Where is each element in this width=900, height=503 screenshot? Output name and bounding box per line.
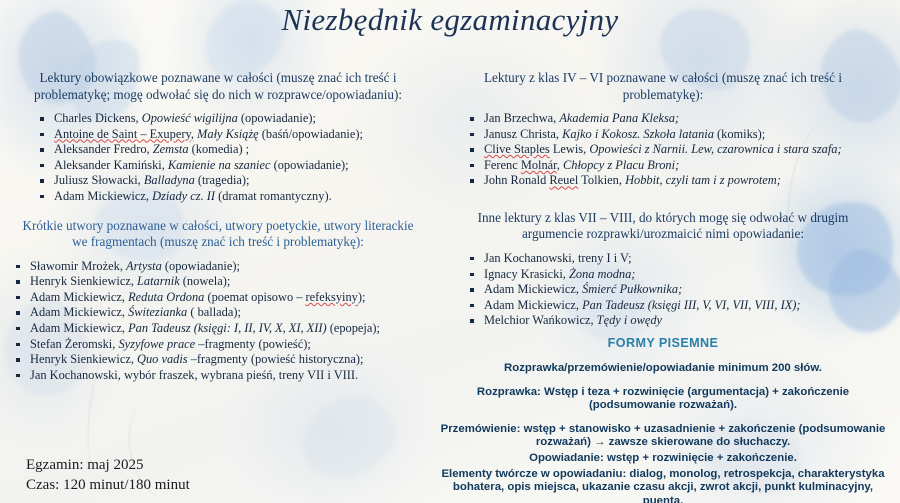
list-item: Henryk Sienkiewicz, Latarnik (nowela); — [8, 274, 428, 289]
list-item: Juliusz Słowacki, Balladyna (tragedia); — [8, 173, 428, 188]
list-item: Janusz Christa, Kajko i Kokosz. Szkoła l… — [432, 127, 894, 142]
left-short-works-list: Sławomir Mrożek, Artysta (opowiadanie); … — [8, 259, 428, 383]
written-forms-line: Przemówienie: wstęp + stanowisko + uzasa… — [432, 423, 894, 450]
slide-canvas: Niezbędnik egzaminacyjny Lektury obowiąz… — [0, 0, 900, 503]
list-item: Adam Mickiewicz, Śmierć Pułkownika; — [432, 282, 894, 297]
list-item: Jan Kochanowski, treny I i V; — [432, 251, 894, 266]
left-column: Lektury obowiązkowe poznawane w całości … — [8, 70, 428, 383]
written-forms-heading: FORMY PISEMNE — [432, 336, 894, 350]
list-item: Antoine de Saint – Exupery, Mały Książę … — [8, 127, 428, 142]
list-item: Aleksander Fredro, Zemsta (komedia) ; — [8, 142, 428, 157]
list-item: Henryk Sienkiewicz, Quo vadis –fragmenty… — [8, 352, 428, 367]
left-heading-required-reading: Lektury obowiązkowe poznawane w całości … — [8, 70, 428, 103]
written-forms-line: Rozprawka: Wstęp i teza + rozwinięcie (a… — [432, 386, 894, 413]
list-item: Adam Mickiewicz, Pan Tadeusz (księgi III… — [432, 298, 894, 313]
right-heading-grades-7-8: Inne lektury z klas VII – VIII, do który… — [432, 210, 894, 243]
exam-footer: Egzamin: maj 2025 Czas: 120 minut/180 mi… — [26, 455, 190, 495]
list-item: John Ronald Reuel Tolkien, Hobbit, czyli… — [432, 173, 894, 188]
list-item: Clive Staples Lewis, Opowieści z Narnii.… — [432, 142, 894, 157]
list-item: Charles Dickens, Opowieść wigilijna (opo… — [8, 111, 428, 126]
written-forms-line: Rozprawka/przemówienie/opowiadanie minim… — [432, 362, 894, 376]
list-item: Stefan Żeromski, Syzyfowe prace –fragmen… — [8, 337, 428, 352]
written-forms-line: Elementy twórcze w opowiadaniu: dialog, … — [432, 468, 894, 503]
list-item: Sławomir Mrożek, Artysta (opowiadanie); — [8, 259, 428, 274]
exam-duration: Czas: 120 minut/180 minut — [26, 475, 190, 495]
right-heading-grades-4-6: Lektury z klas IV – VI poznawane w całoś… — [432, 70, 894, 103]
list-item: Adam Mickiewicz, Reduta Ordona (poemat o… — [8, 290, 428, 305]
left-heading-short-works: Krótkie utwory poznawane w całości, utwo… — [8, 218, 428, 251]
list-item: Aleksander Kamiński, Kamienie na szaniec… — [8, 158, 428, 173]
list-item: Ignacy Krasicki, Żona modna; — [432, 267, 894, 282]
list-item: Ferenc Molnár, Chłopcy z Placu Broni; — [432, 158, 894, 173]
right-grades-7-8-list: Jan Kochanowski, treny I i V; Ignacy Kra… — [432, 251, 894, 328]
list-item: Adam Mickiewicz, Pan Tadeusz (księgi: I,… — [8, 321, 428, 336]
list-item: Melchior Wańkowicz, Tędy i owędy — [432, 313, 894, 328]
written-forms-section: FORMY PISEMNE Rozprawka/przemówienie/opo… — [432, 336, 894, 503]
list-item: Jan Kochanowski, wybór fraszek, wybrana … — [8, 368, 428, 383]
list-item: Adam Mickiewicz, Świtezianka ( ballada); — [8, 305, 428, 320]
right-grades-4-6-list: Jan Brzechwa, Akademia Pana Kleksa; Janu… — [432, 111, 894, 188]
left-required-reading-list: Charles Dickens, Opowieść wigilijna (opo… — [8, 111, 428, 204]
exam-date: Egzamin: maj 2025 — [26, 455, 190, 475]
written-forms-line: Opowiadanie: wstęp + rozwinięcie + zakoń… — [432, 452, 894, 466]
list-item: Jan Brzechwa, Akademia Pana Kleksa; — [432, 111, 894, 126]
list-item: Adam Mickiewicz, Dziady cz. II (dramat r… — [8, 189, 428, 204]
slide-title: Niezbędnik egzaminacyjny — [0, 2, 900, 38]
right-column: Lektury z klas IV – VI poznawane w całoś… — [432, 70, 894, 329]
